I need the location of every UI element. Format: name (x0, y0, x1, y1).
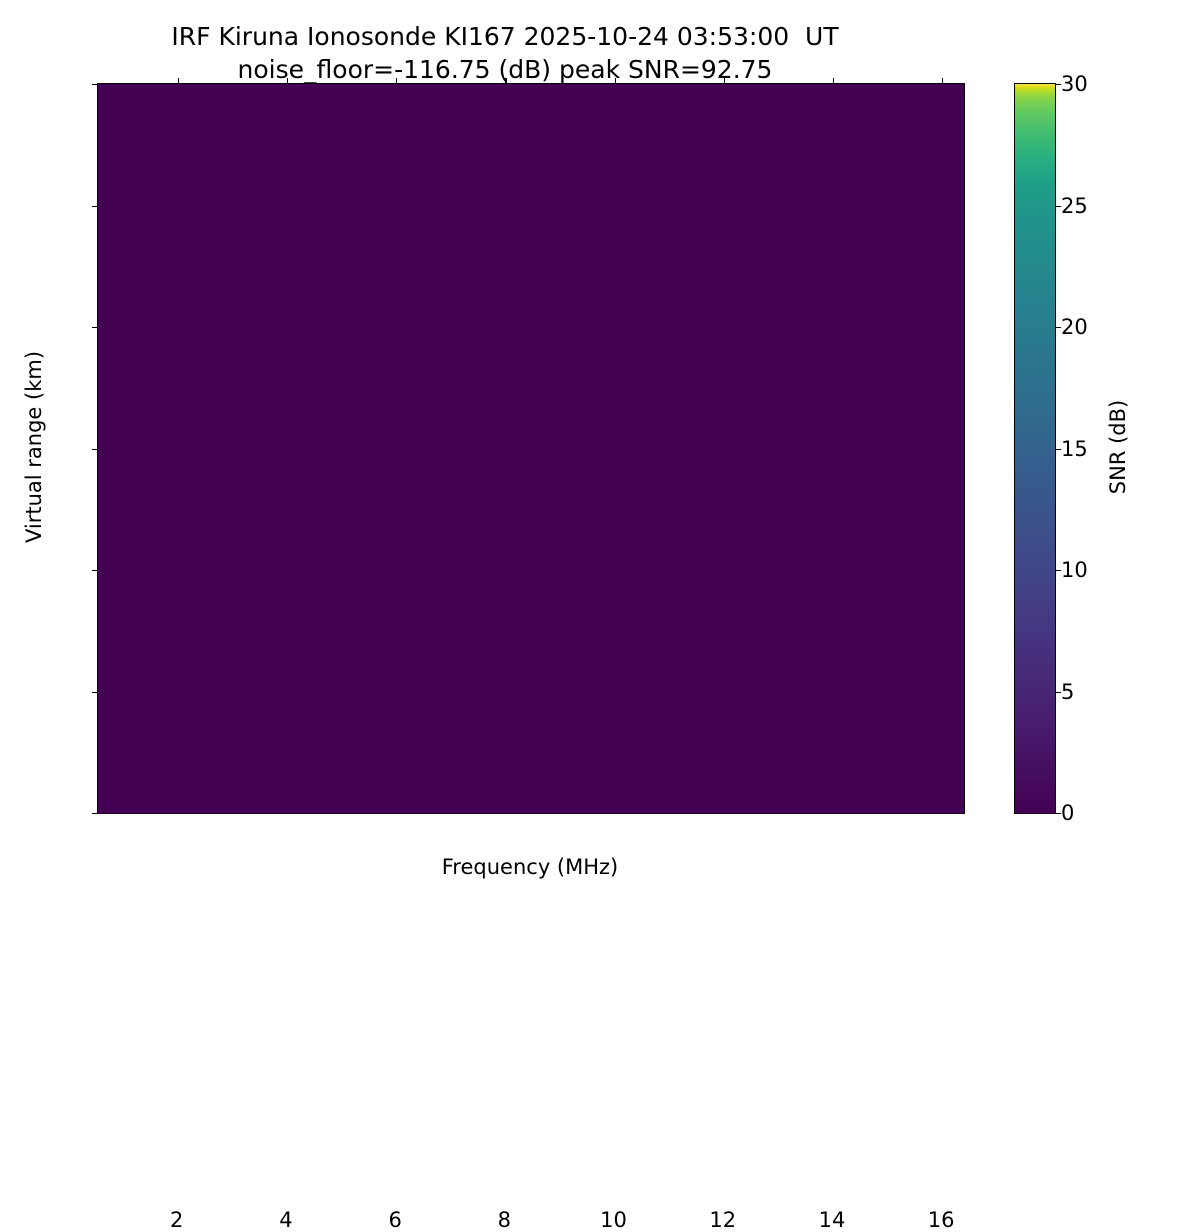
y-axis-label: Virtual range (km) (22, 351, 46, 543)
x-tick-label: 14 (819, 1208, 846, 1232)
x-tick-mark (396, 78, 397, 84)
x-tick-mark (287, 78, 288, 84)
colorbar-tick-label: 20 (1061, 315, 1088, 339)
ionogram-heatmap (98, 84, 964, 813)
x-tick-label: 2 (170, 1208, 183, 1232)
colorbar: 051015202530 (1014, 83, 1056, 814)
colorbar-tick-mark (1055, 206, 1061, 207)
x-tick-label: 4 (279, 1208, 292, 1232)
heatmap-clip (98, 84, 964, 813)
x-tick-label: 8 (498, 1208, 511, 1232)
x-tick-mark (724, 78, 725, 84)
colorbar-tick-label: 5 (1061, 680, 1074, 704)
y-tick-mark (92, 813, 98, 814)
colorbar-tick-mark (1055, 692, 1061, 693)
colorbar-tick-mark (1055, 813, 1061, 814)
y-tick-mark (92, 84, 98, 85)
colorbar-tick-label: 15 (1061, 437, 1088, 461)
colorbar-tick-label: 10 (1061, 558, 1088, 582)
heatmap-axes (97, 83, 965, 814)
y-tick-mark (92, 449, 98, 450)
x-axis-label: Frequency (MHz) (442, 855, 618, 879)
colorbar-tick-mark (1055, 449, 1061, 450)
x-tick-mark (505, 78, 506, 84)
y-tick-mark (92, 692, 98, 693)
y-tick-mark (92, 206, 98, 207)
colorbar-tick-label: 25 (1061, 194, 1088, 218)
x-tick-label: 12 (709, 1208, 736, 1232)
colorbar-tick-label: 30 (1061, 72, 1088, 96)
y-tick-mark (92, 570, 98, 571)
y-tick-mark (92, 327, 98, 328)
colorbar-tick-label: 0 (1061, 801, 1074, 825)
x-tick-mark (178, 78, 179, 84)
colorbar-label: SNR (dB) (1106, 400, 1130, 494)
colorbar-tick-mark (1055, 327, 1061, 328)
x-tick-label: 16 (928, 1208, 955, 1232)
x-tick-mark (942, 78, 943, 84)
colorbar-tick-mark (1055, 570, 1061, 571)
x-tick-mark (615, 78, 616, 84)
chart-title: IRF Kiruna Ionosonde KI167 2025-10-24 03… (0, 20, 1010, 86)
x-tick-mark (833, 78, 834, 84)
colorbar-tick-mark (1055, 84, 1061, 85)
ionogram-figure: IRF Kiruna Ionosonde KI167 2025-10-24 03… (0, 0, 1200, 900)
x-tick-label: 10 (600, 1208, 627, 1232)
x-tick-label: 6 (388, 1208, 401, 1232)
